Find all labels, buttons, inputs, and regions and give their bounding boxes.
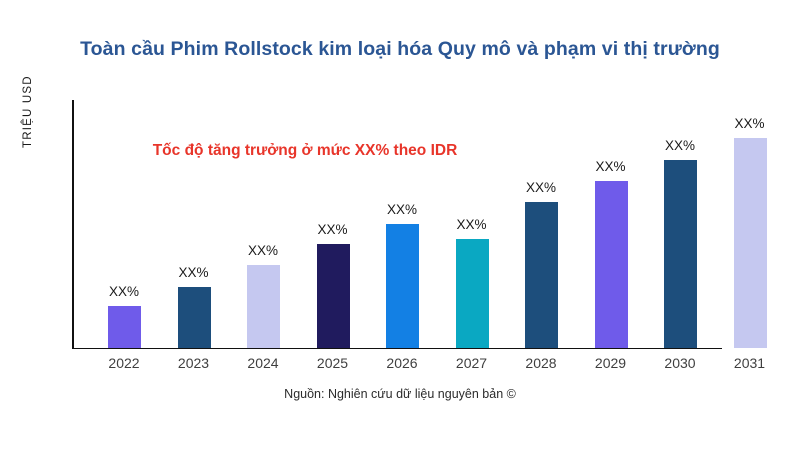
x-axis-tick-label: 2031: [715, 355, 785, 371]
bar-value-label: XX%: [89, 284, 159, 299]
bar[interactable]: [664, 160, 697, 348]
bar-value-label: XX%: [576, 159, 646, 174]
bar[interactable]: [178, 287, 211, 348]
chart-container: Toàn cầu Phim Rollstock kim loại hóa Quy…: [0, 0, 800, 450]
bar[interactable]: [734, 138, 767, 348]
bar-group: XX%2031: [715, 0, 785, 450]
bar-value-label: XX%: [715, 116, 785, 131]
bar-group: XX%2023: [159, 0, 229, 450]
bar-group: XX%2024: [228, 0, 298, 450]
bar-value-label: XX%: [437, 217, 507, 232]
bar[interactable]: [247, 265, 280, 348]
x-axis-tick-label: 2029: [576, 355, 646, 371]
bar-value-label: XX%: [228, 243, 298, 258]
bar-value-label: XX%: [159, 265, 229, 280]
bar-group: XX%2029: [576, 0, 646, 450]
bar[interactable]: [386, 224, 419, 348]
bar-group: XX%2022: [89, 0, 159, 450]
bar[interactable]: [456, 239, 489, 348]
bar-group: XX%2027: [437, 0, 507, 450]
x-axis-tick-label: 2022: [89, 355, 159, 371]
plot-area: XX%2022XX%2023XX%2024XX%2025XX%2026XX%20…: [0, 0, 800, 450]
x-axis-tick-label: 2024: [228, 355, 298, 371]
bar-value-label: XX%: [645, 138, 715, 153]
x-axis-tick-label: 2030: [645, 355, 715, 371]
bar-value-label: XX%: [506, 180, 576, 195]
source-note: Nguồn: Nghiên cứu dữ liệu nguyên bản ©: [0, 387, 800, 401]
bar[interactable]: [595, 181, 628, 348]
bar[interactable]: [317, 244, 350, 348]
x-axis-tick-label: 2027: [437, 355, 507, 371]
bar-group: XX%2028: [506, 0, 576, 450]
x-axis-tick-label: 2028: [506, 355, 576, 371]
bar-value-label: XX%: [298, 222, 368, 237]
bar[interactable]: [525, 202, 558, 348]
x-axis-tick-label: 2025: [298, 355, 368, 371]
bar-group: XX%2030: [645, 0, 715, 450]
x-axis-tick-label: 2023: [159, 355, 229, 371]
bar-value-label: XX%: [367, 202, 437, 217]
x-axis-tick-label: 2026: [367, 355, 437, 371]
bar-group: XX%2025: [298, 0, 368, 450]
bar-group: XX%2026: [367, 0, 437, 450]
bar[interactable]: [108, 306, 141, 348]
